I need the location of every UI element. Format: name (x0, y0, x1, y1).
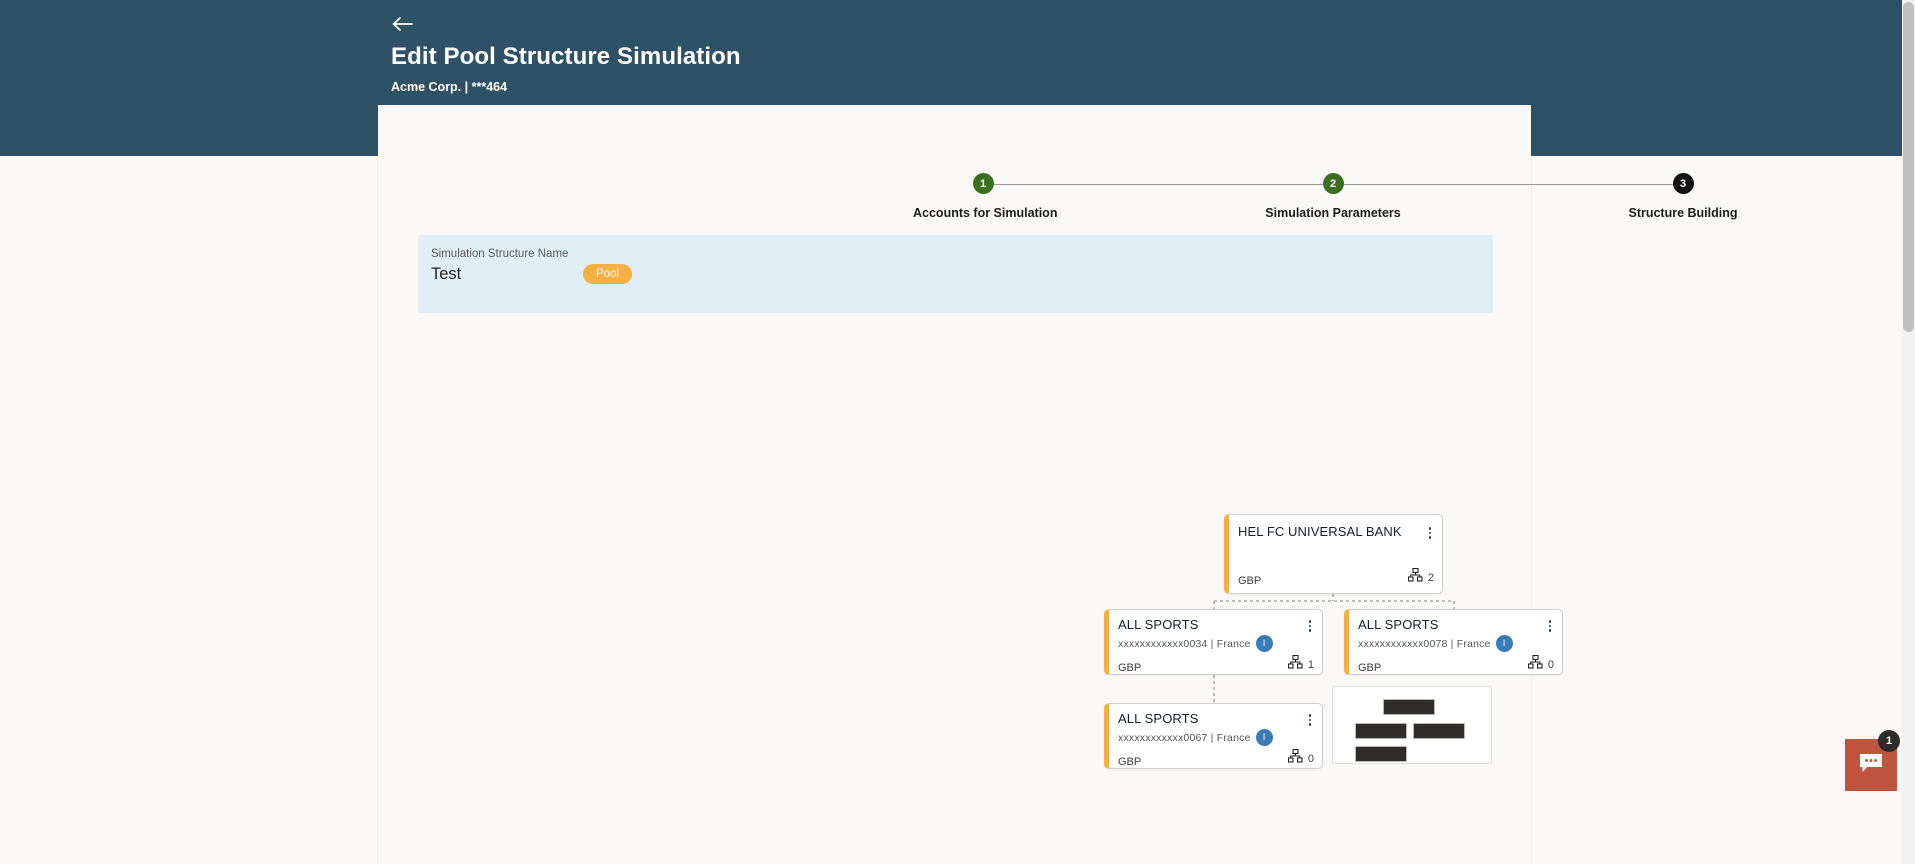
minimap-node-c1 (1355, 723, 1407, 739)
node-account-number: xxxxxxxxxxxx0067 | France (1118, 732, 1251, 744)
node-account-row: xxxxxxxxxxxx0034 | France I (1109, 632, 1322, 652)
tree-node-c1[interactable]: ALL SPORTS xxxxxxxxxxxx0034 | France I G… (1104, 609, 1323, 675)
node-header: ALL SPORTS (1109, 704, 1322, 726)
stepper-step-3[interactable]: 3 Structure Building (1613, 173, 1753, 220)
node-header: ALL SPORTS (1109, 610, 1322, 632)
node-child-count-value: 0 (1548, 659, 1554, 671)
kebab-menu-icon[interactable] (1424, 524, 1436, 539)
node-child-count-value: 1 (1308, 659, 1314, 671)
node-child-count[interactable]: 0 (1528, 655, 1554, 674)
info-badge-icon[interactable]: I (1256, 635, 1273, 652)
tree-node-c3[interactable]: ALL SPORTS xxxxxxxxxxxx0067 | France I G… (1104, 703, 1323, 769)
kebab-menu-icon[interactable] (1304, 711, 1316, 726)
node-footer: GBP 1 (1109, 655, 1322, 679)
minimap-node-root (1383, 699, 1435, 715)
arrow-left-icon[interactable] (391, 13, 417, 35)
stepper-circle-3[interactable]: 3 (1673, 173, 1694, 194)
header-content: Edit Pool Structure Simulation Acme Corp… (378, 0, 1538, 94)
hierarchy-icon (1408, 568, 1423, 587)
node-footer: GBP 0 (1109, 749, 1322, 773)
node-child-count[interactable]: 0 (1288, 749, 1314, 768)
node-currency: GBP (1238, 575, 1261, 587)
node-title: ALL SPORTS (1118, 617, 1198, 632)
node-child-count[interactable]: 2 (1408, 568, 1434, 587)
node-title: ALL SPORTS (1118, 711, 1198, 726)
node-footer: GBP 2 (1229, 568, 1442, 592)
page-title: Edit Pool Structure Simulation (391, 43, 1538, 71)
node-footer: GBP 0 (1349, 655, 1562, 679)
node-child-count-value: 2 (1428, 572, 1434, 584)
node-currency: GBP (1118, 756, 1141, 768)
node-child-count[interactable]: 1 (1288, 655, 1314, 674)
page-scrollbar[interactable] (1902, 0, 1915, 864)
node-account-row: xxxxxxxxxxxx0067 | France I (1109, 726, 1322, 746)
page-root: Edit Pool Structure Simulation Acme Corp… (0, 0, 1915, 864)
node-account-row: xxxxxxxxxxxx0078 | France I (1349, 632, 1562, 652)
tree-node-c2[interactable]: ALL SPORTS xxxxxxxxxxxx0078 | France I G… (1344, 609, 1563, 675)
kebab-menu-icon[interactable] (1544, 617, 1556, 632)
node-currency: GBP (1358, 662, 1381, 674)
hierarchy-icon (1528, 655, 1543, 674)
stepper-label-3: Structure Building (1613, 206, 1753, 220)
chat-unread-badge: 1 (1878, 730, 1900, 752)
kebab-menu-icon[interactable] (1304, 617, 1316, 632)
info-badge-icon[interactable]: I (1256, 729, 1273, 746)
page-subtitle: Acme Corp. | ***464 (391, 80, 1538, 94)
tree-node-root[interactable]: HEL FC UNIVERSAL BANK GBP (1224, 514, 1443, 594)
structure-minimap[interactable] (1332, 686, 1492, 764)
node-currency: GBP (1118, 662, 1141, 674)
node-account-number: xxxxxxxxxxxx0034 | France (1118, 638, 1251, 650)
page-scrollbar-thumb[interactable] (1903, 2, 1914, 332)
hierarchy-icon (1288, 655, 1303, 674)
chat-bubble-icon (1858, 752, 1884, 779)
minimap-inner (1333, 687, 1491, 763)
minimap-node-c2 (1413, 723, 1465, 739)
node-child-count-value: 0 (1308, 753, 1314, 765)
node-account-number: xxxxxxxxxxxx0078 | France (1358, 638, 1491, 650)
info-badge-icon[interactable]: I (1496, 635, 1513, 652)
minimap-node-c3 (1355, 746, 1407, 762)
node-title: ALL SPORTS (1358, 617, 1438, 632)
node-header: HEL FC UNIVERSAL BANK (1229, 515, 1442, 539)
node-header: ALL SPORTS (1349, 610, 1562, 632)
hierarchy-icon (1288, 749, 1303, 768)
node-title: HEL FC UNIVERSAL BANK (1238, 524, 1402, 539)
